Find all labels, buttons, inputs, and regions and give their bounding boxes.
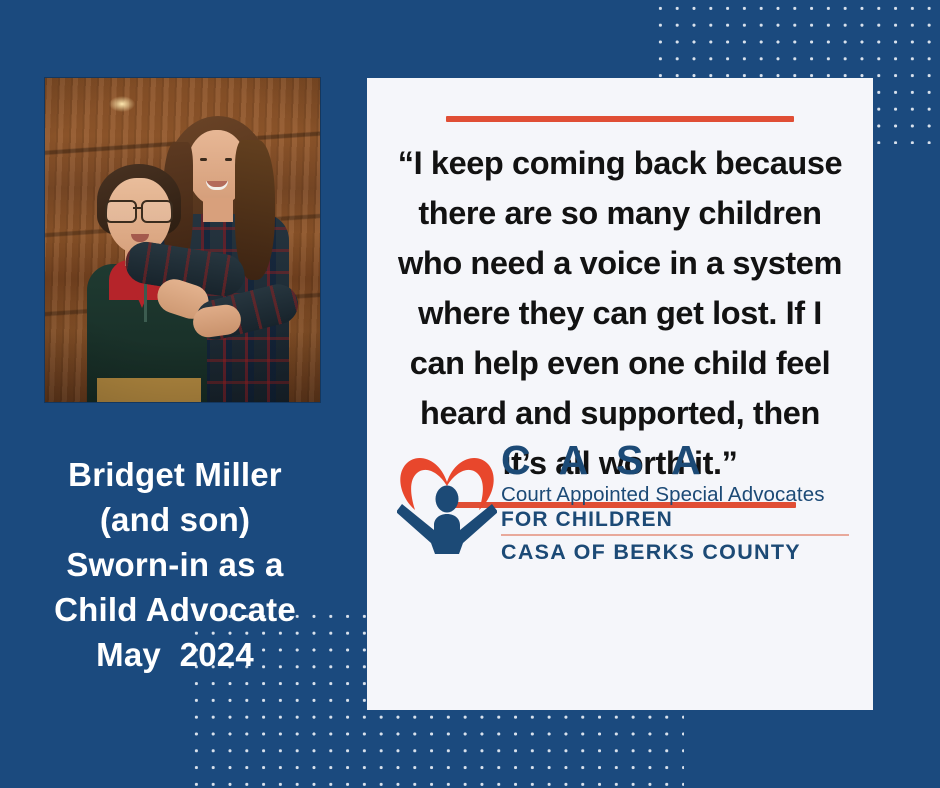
- casa-wordmark: C A S A Court Appointed Special Advocate…: [501, 438, 849, 565]
- caption-line-name: Bridget Miller: [10, 452, 340, 497]
- quote-line-1: “I keep coming back because: [385, 138, 855, 188]
- quote-line-4: where they can get lost. If I: [385, 288, 855, 338]
- quote-line-6: heard and supported, then: [385, 388, 855, 438]
- caption-line-swornin: Sworn-in as a: [10, 542, 340, 587]
- casa-tagline: Court Appointed Special Advocates: [501, 482, 849, 507]
- quote-card: “I keep coming back because there are so…: [367, 78, 873, 710]
- casa-logo: C A S A Court Appointed Special Advocate…: [397, 438, 849, 568]
- quote-text: “I keep coming back because there are so…: [385, 138, 855, 488]
- caption-line-date: May 2024: [10, 632, 340, 677]
- poster-canvas: Bridget Miller (and son) Sworn-in as a C…: [0, 0, 940, 788]
- quote-line-2: there are so many children: [385, 188, 855, 238]
- photo-vignette: [45, 78, 320, 402]
- casa-acronym: C A S A: [501, 438, 849, 482]
- caption-block: Bridget Miller (and son) Sworn-in as a C…: [10, 452, 340, 677]
- volunteer-photo: [45, 78, 320, 402]
- quote-line-5: can help even one child feel: [385, 338, 855, 388]
- quote-line-3: who need a voice in a system: [385, 238, 855, 288]
- casa-heart-child-icon: [397, 442, 497, 554]
- accent-rule-top: [446, 116, 794, 122]
- casa-divider-rule: [501, 534, 849, 536]
- casa-for-children: FOR CHILDREN: [501, 507, 849, 532]
- caption-line-andson: (and son): [10, 497, 340, 542]
- caption-line-childadvocate: Child Advocate: [10, 587, 340, 632]
- casa-chapter-name: CASA OF BERKS COUNTY: [501, 539, 849, 565]
